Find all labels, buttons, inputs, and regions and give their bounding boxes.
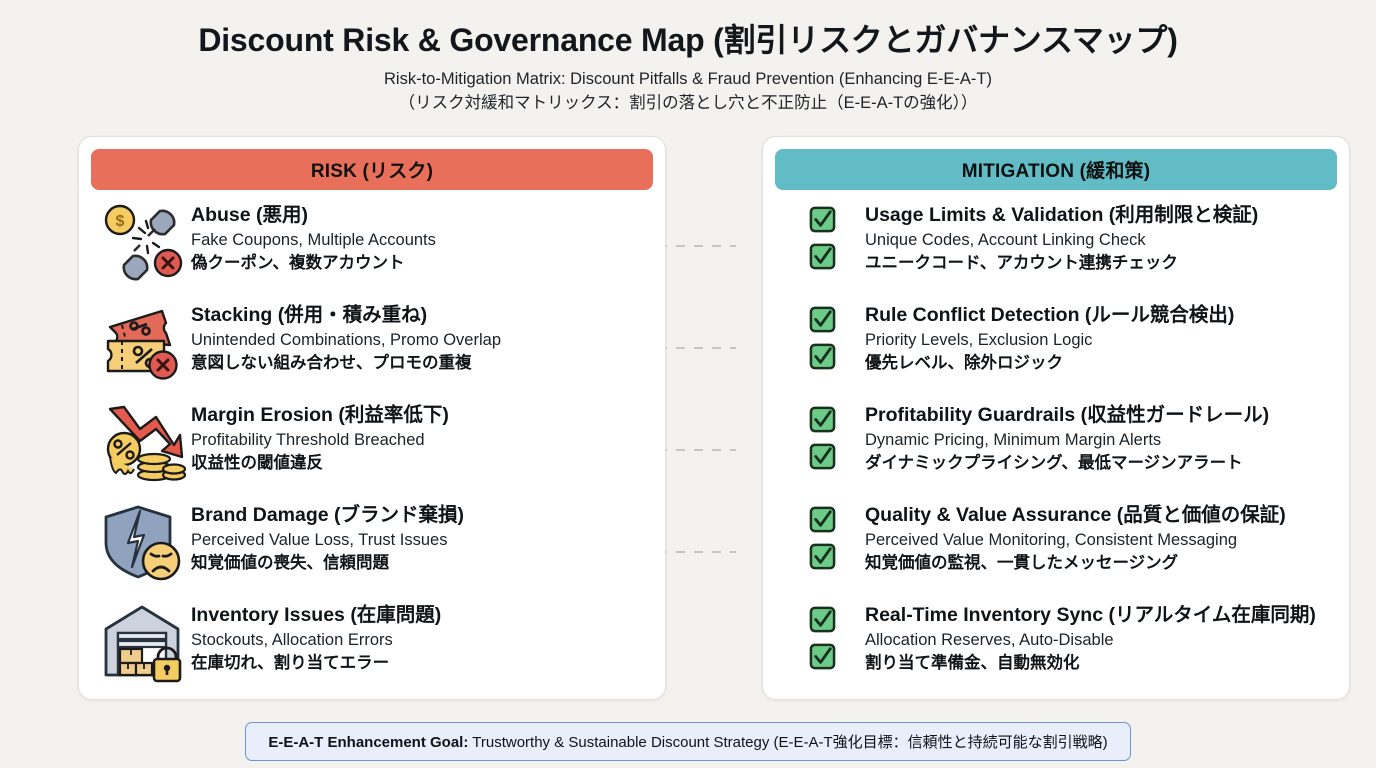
risk-item-title: Abuse (悪用) [191, 204, 436, 227]
risk-item-sub-ja: 収益性の閾値違反 [191, 452, 449, 474]
green-check-icon [809, 643, 836, 670]
risk-item-sub-en: Perceived Value Loss, Trust Issues [191, 529, 464, 551]
declining-arrow-coins-icon [95, 396, 191, 488]
risk-row-texts: Stacking (併用・積み重ね) Unintended Combinatio… [191, 296, 501, 374]
risk-row-texts: Inventory Issues (在庫問題) Stockouts, Alloc… [191, 596, 441, 674]
mitigation-card: MITIGATION (緩和策) Usage Lim [762, 136, 1350, 700]
mitigation-item-sub-ja: 割り当て準備金、自動無効化 [865, 652, 1316, 674]
cracked-shield-sad-face-icon [95, 496, 191, 588]
risk-item-sub-ja: 偽クーポン、複数アカウント [191, 252, 436, 274]
green-check-icon [809, 606, 836, 633]
risk-item-sub-en: Profitability Threshold Breached [191, 429, 449, 451]
mitigation-row-profitability-guardrails[interactable]: Profitability Guardrails (収益性ガードレール) Dyn… [775, 396, 1337, 496]
risk-row-brand-damage[interactable]: Brand Damage (ブランド棄損) Perceived Value Lo… [91, 496, 653, 596]
green-check-icon [809, 243, 836, 270]
warehouse-lock-icon [95, 596, 191, 688]
green-check-icon [809, 443, 836, 470]
eeat-goal-banner: E-E-A-T Enhancement Goal: Trustworthy & … [245, 722, 1130, 761]
risk-rows: $ [91, 196, 653, 696]
mitigation-column-header: MITIGATION (緩和策) [775, 149, 1337, 190]
risk-item-title: Margin Erosion (利益率低下) [191, 404, 449, 427]
risk-column-header: RISK (リスク) [91, 149, 653, 190]
mitigation-item-sub-en: Unique Codes, Account Linking Check [865, 229, 1258, 251]
subtitle-line-en: Risk-to-Mitigation Matrix: Discount Pitf… [384, 70, 992, 88]
mitigation-item-sub-ja: 知覚価値の監視、一貫したメッセージング [865, 552, 1286, 574]
page-subtitle: Risk-to-Mitigation Matrix: Discount Pitf… [0, 68, 1376, 116]
risk-item-title: Inventory Issues (在庫問題) [191, 604, 441, 627]
risk-item-sub-ja: 意図しない組み合わせ、プロモの重複 [191, 352, 501, 374]
risk-row-texts: Abuse (悪用) Fake Coupons, Multiple Accoun… [191, 196, 436, 274]
mitigation-item-sub-en: Perceived Value Monitoring, Consistent M… [865, 529, 1286, 551]
risk-item-sub-en: Stockouts, Allocation Errors [191, 629, 441, 651]
green-check-icon [809, 206, 836, 233]
green-check-icon [809, 343, 836, 370]
mitigation-row-texts: Rule Conflict Detection (ルール競合検出) Priori… [865, 296, 1234, 374]
risk-row-abuse[interactable]: $ [91, 196, 653, 296]
header: Discount Risk & Governance Map (割引リスクとガバ… [0, 0, 1376, 116]
mitigation-row-texts: Usage Limits & Validation (利用制限と検証) Uniq… [865, 196, 1258, 274]
mitigation-item-title: Profitability Guardrails (収益性ガードレール) [865, 404, 1269, 427]
mitigation-row-rule-conflict[interactable]: Rule Conflict Detection (ルール競合検出) Priori… [775, 296, 1337, 396]
check-stack [779, 596, 865, 670]
check-stack [779, 496, 865, 570]
mitigation-rows: Usage Limits & Validation (利用制限と検証) Uniq… [775, 196, 1337, 696]
green-check-icon [809, 406, 836, 433]
mitigation-row-usage-limits[interactable]: Usage Limits & Validation (利用制限と検証) Uniq… [775, 196, 1337, 296]
risk-row-stacking[interactable]: Stacking (併用・積み重ね) Unintended Combinatio… [91, 296, 653, 396]
check-stack [779, 196, 865, 270]
mitigation-row-realtime-inventory-sync[interactable]: Real-Time Inventory Sync (リアルタイム在庫同期) Al… [775, 596, 1337, 696]
risk-item-title: Brand Damage (ブランド棄損) [191, 504, 464, 527]
risk-row-margin-erosion[interactable]: Margin Erosion (利益率低下) Profitability Thr… [91, 396, 653, 496]
risk-item-sub-ja: 在庫切れ、割り当てエラー [191, 652, 441, 674]
mitigation-row-texts: Profitability Guardrails (収益性ガードレール) Dyn… [865, 396, 1269, 474]
green-check-icon [809, 306, 836, 333]
risk-item-sub-en: Fake Coupons, Multiple Accounts [191, 229, 436, 251]
footer: E-E-A-T Enhancement Goal: Trustworthy & … [0, 722, 1376, 761]
mitigation-item-title: Quality & Value Assurance (品質と価値の保証) [865, 504, 1286, 527]
risk-item-sub-en: Unintended Combinations, Promo Overlap [191, 329, 501, 351]
risk-row-inventory-issues[interactable]: Inventory Issues (在庫問題) Stockouts, Alloc… [91, 596, 653, 696]
check-stack [779, 396, 865, 470]
discount-risk-governance-map: Discount Risk & Governance Map (割引リスクとガバ… [0, 0, 1376, 768]
risk-card: RISK (リスク) $ [78, 136, 666, 700]
mitigation-item-title: Real-Time Inventory Sync (リアルタイム在庫同期) [865, 604, 1316, 627]
risk-row-texts: Margin Erosion (利益率低下) Profitability Thr… [191, 396, 449, 474]
risk-item-title: Stacking (併用・積み重ね) [191, 304, 501, 327]
mitigation-item-sub-en: Dynamic Pricing, Minimum Margin Alerts [865, 429, 1269, 451]
subtitle-line-ja: （リスク対緩和マトリックス：割引の落とし穴と不正防止（E-E-A-Tの強化）） [0, 92, 1376, 116]
mitigation-item-sub-ja: ダイナミックプライシング、最低マージンアラート [865, 452, 1269, 474]
mitigation-row-quality-value-assurance[interactable]: Quality & Value Assurance (品質と価値の保証) Per… [775, 496, 1337, 596]
broken-chain-coin-icon: $ [95, 196, 191, 288]
svg-text:$: $ [116, 213, 125, 230]
stacked-coupons-icon [95, 296, 191, 388]
mitigation-row-texts: Real-Time Inventory Sync (リアルタイム在庫同期) Al… [865, 596, 1316, 674]
green-check-icon [809, 506, 836, 533]
risk-row-texts: Brand Damage (ブランド棄損) Perceived Value Lo… [191, 496, 464, 574]
mitigation-row-texts: Quality & Value Assurance (品質と価値の保証) Per… [865, 496, 1286, 574]
mitigation-item-sub-en: Priority Levels, Exclusion Logic [865, 329, 1234, 351]
mitigation-item-title: Rule Conflict Detection (ルール競合検出) [865, 304, 1234, 327]
check-stack [779, 296, 865, 370]
green-check-icon [809, 543, 836, 570]
eeat-goal-text: Trustworthy & Sustainable Discount Strat… [468, 734, 1107, 751]
risk-item-sub-ja: 知覚価値の喪失、信頼問題 [191, 552, 464, 574]
mitigation-item-sub-en: Allocation Reserves, Auto-Disable [865, 629, 1316, 651]
mitigation-item-sub-ja: ユニークコード、アカウント連携チェック [865, 252, 1258, 274]
mitigation-item-sub-ja: 優先レベル、除外ロジック [865, 352, 1234, 374]
mitigation-item-title: Usage Limits & Validation (利用制限と検証) [865, 204, 1258, 227]
eeat-goal-label: E-E-A-T Enhancement Goal: [268, 734, 468, 751]
page-title: Discount Risk & Governance Map (割引リスクとガバ… [0, 22, 1376, 59]
